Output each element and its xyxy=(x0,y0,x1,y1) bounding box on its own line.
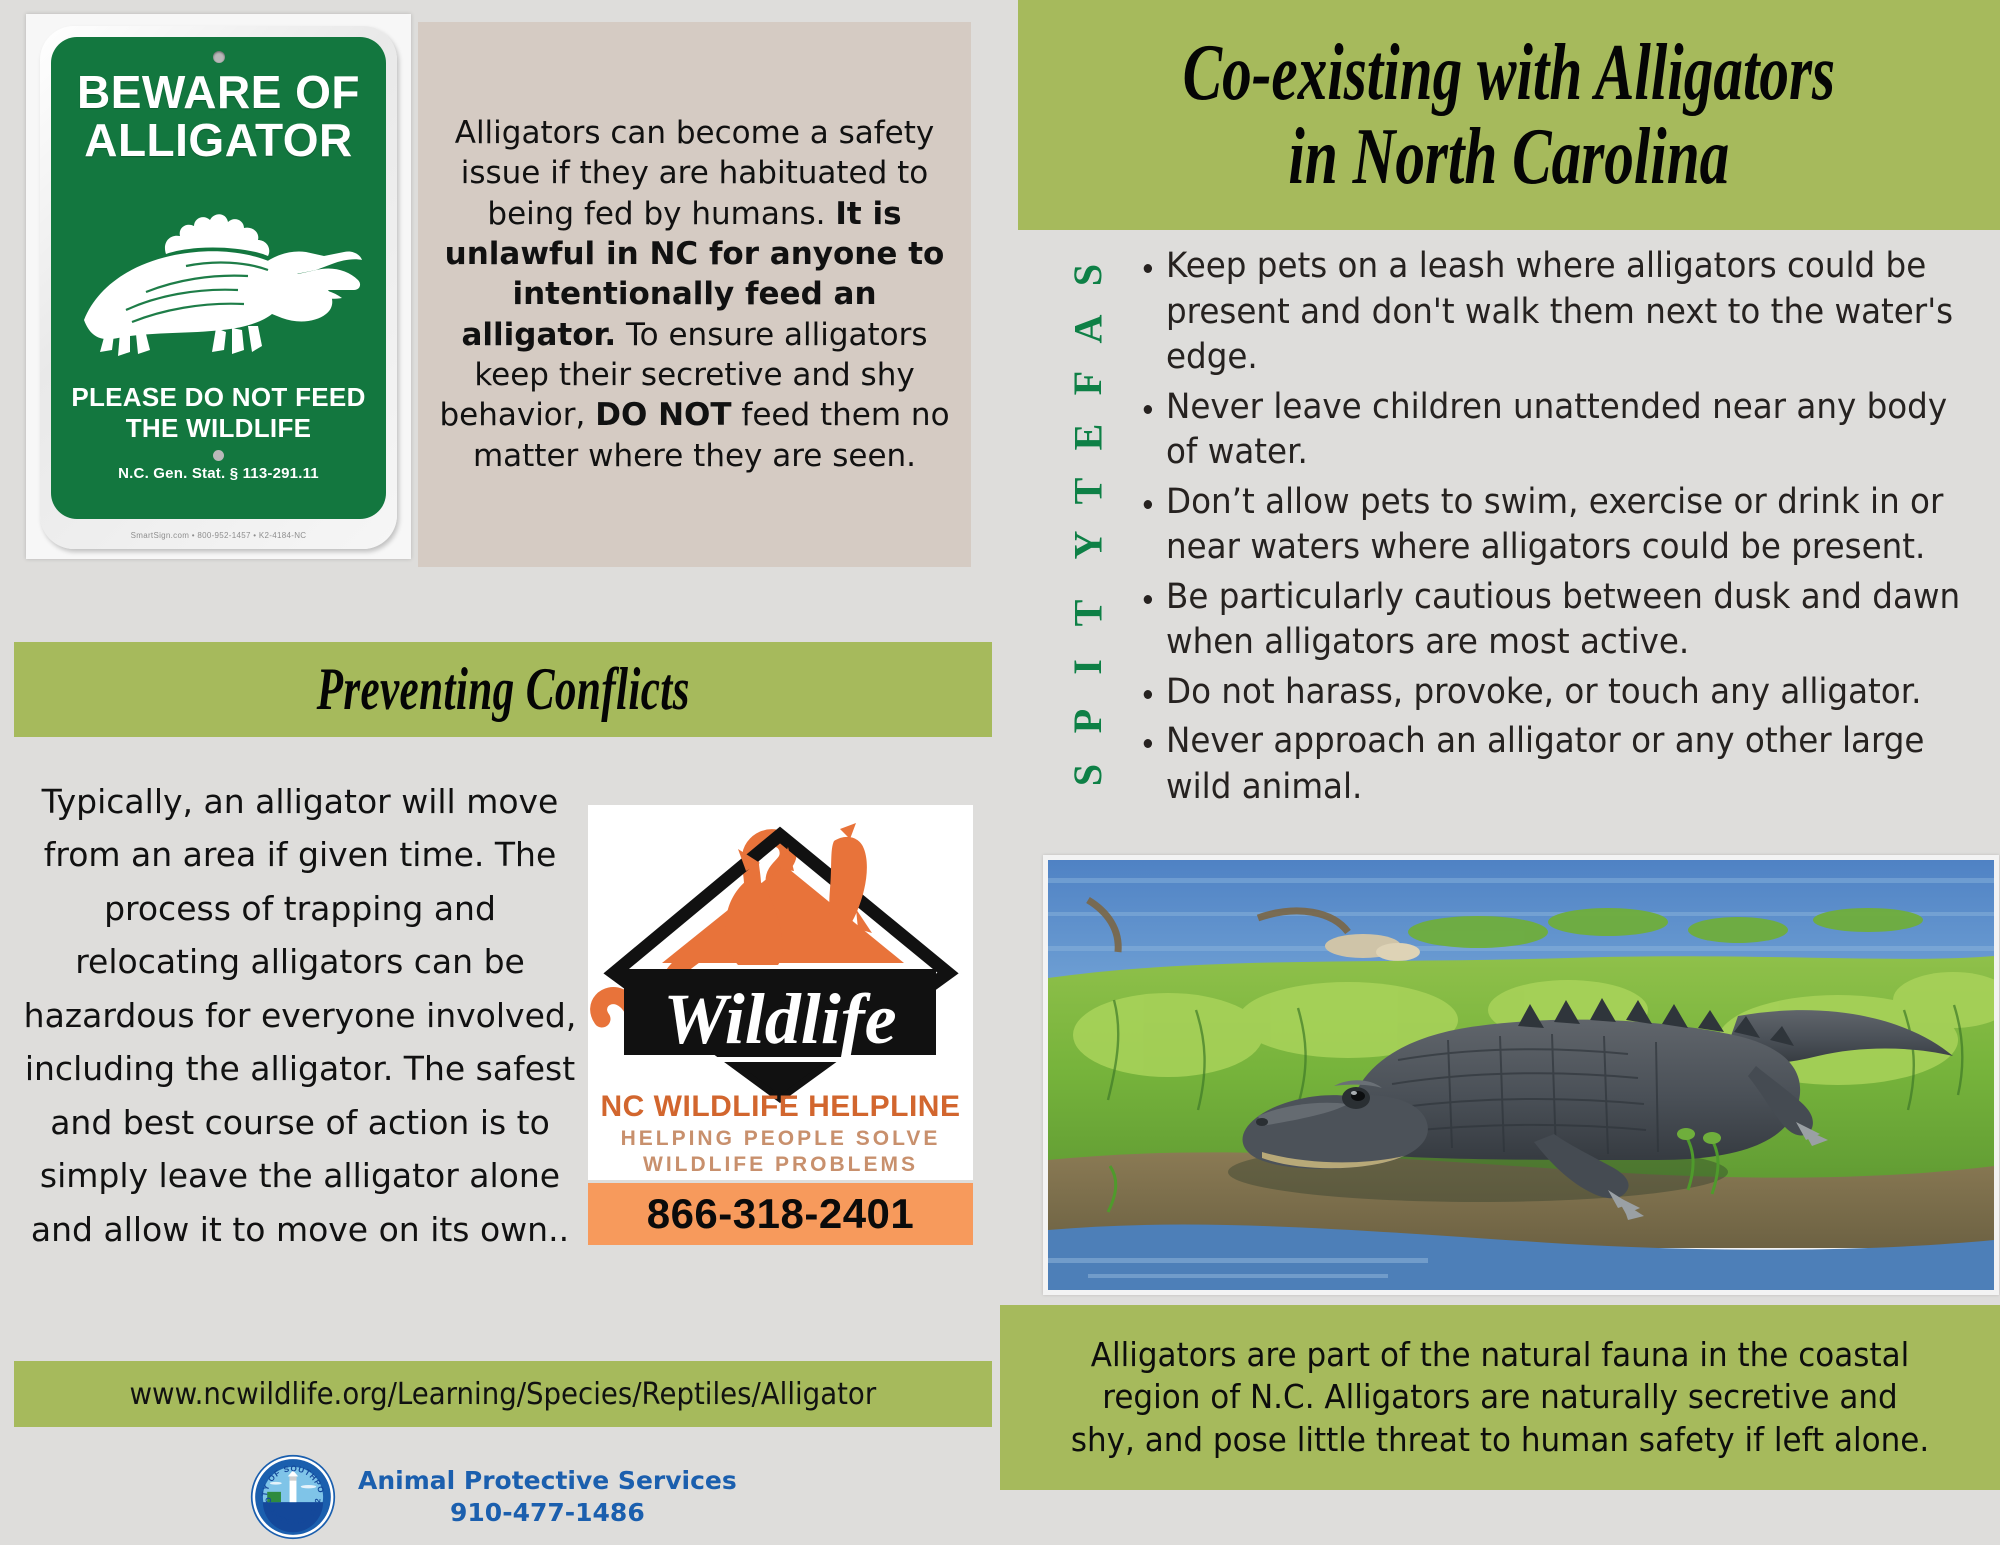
safety-letter: A xyxy=(1068,315,1108,344)
sign-line-1: BEWARE OF xyxy=(77,69,360,116)
sign-fine-print: SmartSign.com • 800-952-1457 • K2-4184-N… xyxy=(40,531,397,540)
safety-tip-item: Don’t allow pets to swim, exercise or dr… xyxy=(1166,480,1966,571)
footer-phone[interactable]: 910-477-1486 xyxy=(358,1497,737,1529)
page-title-line-2: in North Carolina xyxy=(1183,115,1835,199)
feeding-notice-text: Alligators can become a safety issue if … xyxy=(438,113,951,476)
alligator-photo xyxy=(1048,860,1994,1290)
beware-of-alligator-sign: BEWARE OF ALLIGATOR xyxy=(26,14,411,559)
footer: CITY OF SOUTHPORT CHARTERED 1792 Animal … xyxy=(250,1452,870,1542)
sign-statute: N.C. Gen. Stat. § 113-291.11 xyxy=(118,465,319,482)
safety-letter: E xyxy=(1068,424,1108,451)
safety-tips-section: S A F E T Y T I P S Keep pets on a leash… xyxy=(1060,248,2000,838)
website-band: www.ncwildlife.org/Learning/Species/Rept… xyxy=(14,1361,992,1427)
sign-mounting-hole-lower-icon xyxy=(213,450,224,461)
city-of-southport-seal-icon: CITY OF SOUTHPORT CHARTERED 1792 xyxy=(250,1454,336,1540)
sign-mounting-hole-icon xyxy=(213,51,225,63)
photo-caption-box: Alligators are part of the natural fauna… xyxy=(1000,1305,2000,1490)
safety-tip-item: Be particularly cautious between dusk an… xyxy=(1166,575,1966,666)
safety-letter: S xyxy=(1068,264,1108,286)
preventing-conflicts-body: Typically, an alligator will move from a… xyxy=(20,775,580,1256)
helpline-card: Wildlife NC WILDLIFE HELPLINE HELPING PE… xyxy=(588,805,973,1180)
website-url[interactable]: www.ncwildlife.org/Learning/Species/Rept… xyxy=(130,1377,877,1412)
sign-line-2: ALLIGATOR xyxy=(84,117,353,164)
sign-line-4: THE WILDLIFE xyxy=(126,415,312,442)
footer-text: Animal Protective Services 910-477-1486 xyxy=(358,1465,737,1529)
safety-tips-list: Keep pets on a leash where alligators co… xyxy=(1126,244,2000,814)
safety-tip-item: Never approach an alligator or any other… xyxy=(1166,719,1966,810)
safety-letter: Y xyxy=(1068,531,1108,560)
photo-caption-text: Alligators are part of the natural fauna… xyxy=(1068,1334,1933,1461)
page-title: Co-existing with Alligators in North Car… xyxy=(1183,31,1835,199)
sign-face: BEWARE OF ALLIGATOR xyxy=(51,37,386,519)
safety-tips-vertical-label: S A F E T Y T I P S xyxy=(1060,248,1116,828)
safety-tip-item: Never leave children unattended near any… xyxy=(1166,385,1966,476)
sign-plate: BEWARE OF ALLIGATOR xyxy=(40,26,397,549)
flyer-page: BEWARE OF ALLIGATOR xyxy=(0,0,2000,1545)
svg-text:Wildlife: Wildlife xyxy=(663,979,896,1059)
safety-letter: T xyxy=(1068,478,1108,505)
preventing-conflicts-band: Preventing Conflicts xyxy=(14,642,992,737)
notice-bold-2: DO NOT xyxy=(595,397,731,433)
safety-letter: P xyxy=(1068,709,1108,733)
safety-tip-item: Keep pets on a leash where alligators co… xyxy=(1166,244,1966,381)
helpline-phone[interactable]: 866-318-2401 xyxy=(588,1183,973,1245)
safety-tip-item: Do not harass, provoke, or touch any all… xyxy=(1166,670,1966,716)
preventing-conflicts-heading: Preventing Conflicts xyxy=(316,655,689,724)
sign-line-3: PLEASE DO NOT FEED xyxy=(71,384,365,411)
safety-letter: F xyxy=(1068,371,1108,395)
page-title-line-1: Co-existing with Alligators xyxy=(1183,31,1835,115)
safety-letter: S xyxy=(1068,764,1108,786)
nc-wildlife-helpline-block: Wildlife NC WILDLIFE HELPLINE HELPING PE… xyxy=(588,805,973,1180)
safety-letter: T xyxy=(1068,600,1108,627)
footer-agency: Animal Protective Services xyxy=(358,1465,737,1497)
main-title-band: Co-existing with Alligators in North Car… xyxy=(1018,0,2000,230)
alligator-photo-frame xyxy=(1043,855,1999,1295)
helpline-name: NC WILDLIFE HELPLINE xyxy=(588,1090,973,1124)
alligator-silhouette-icon xyxy=(66,170,371,380)
helpline-tagline-1: HELPING PEOPLE SOLVE xyxy=(588,1127,973,1151)
wildlife-diamond-logo-icon: Wildlife xyxy=(588,805,973,1105)
safety-letter: I xyxy=(1068,659,1108,675)
feeding-notice-box: Alligators can become a safety issue if … xyxy=(418,22,971,567)
